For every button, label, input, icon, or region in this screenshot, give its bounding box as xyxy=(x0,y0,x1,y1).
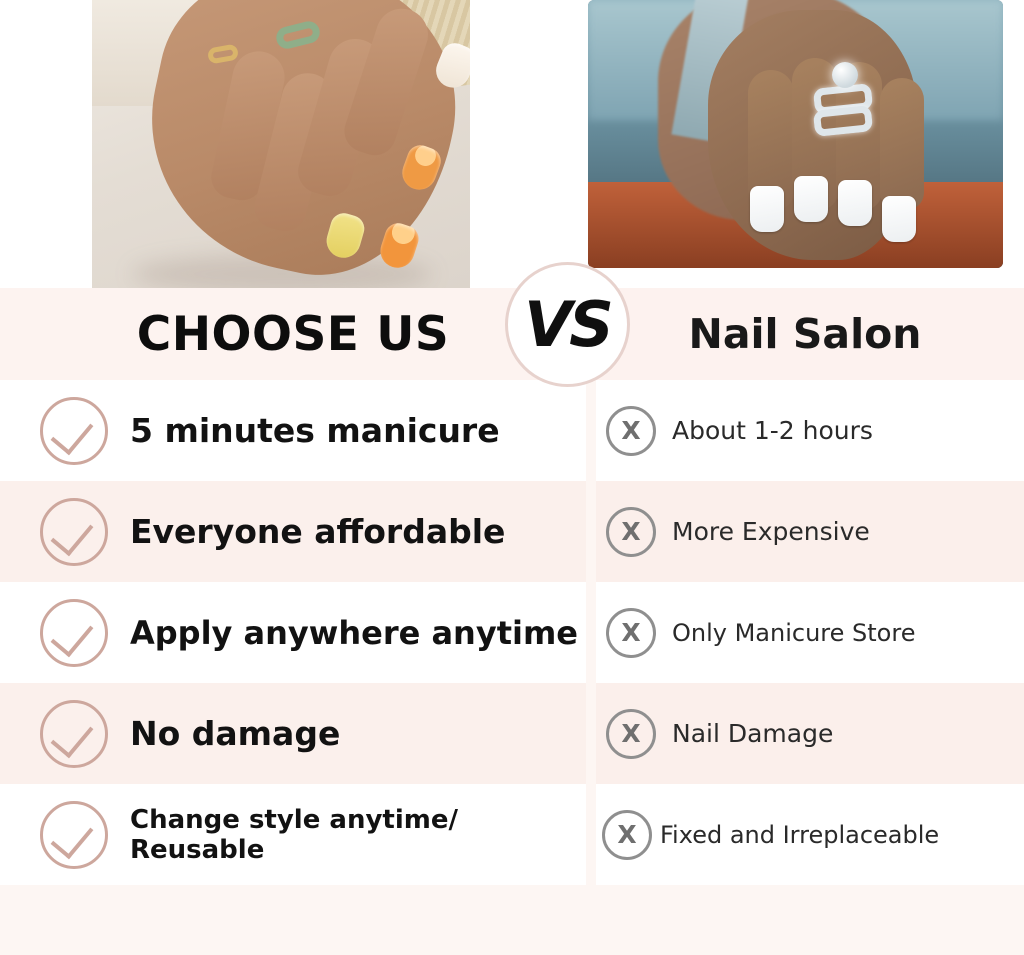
x-icon: X xyxy=(606,709,656,759)
check-icon xyxy=(40,498,108,566)
pro-text: Apply anywhere anytime xyxy=(130,614,578,652)
diamond-gem xyxy=(832,62,858,88)
column-divider xyxy=(586,582,596,683)
choose-us-photo xyxy=(92,0,470,288)
pro-cell: Everyone affordable xyxy=(0,481,586,582)
check-icon xyxy=(40,801,108,869)
pro-text: Everyone affordable xyxy=(130,512,505,551)
pro-cell: No damage xyxy=(0,683,586,784)
choose-us-label: CHOOSE US xyxy=(137,307,450,362)
comparison-infographic: CHOOSE US VS Nail Salon 5 minutes manicu… xyxy=(0,0,1024,955)
con-text: Fixed and Irreplaceable xyxy=(660,821,939,849)
con-cell: X Only Manicure Store xyxy=(586,582,1024,683)
x-icon: X xyxy=(606,608,656,658)
table-row: Apply anywhere anytime X Only Manicure S… xyxy=(0,582,1024,683)
pro-cell: 5 minutes manicure xyxy=(0,380,586,481)
pro-text: Change style anytime/ Reusable xyxy=(130,805,586,865)
nail-salon-title: Nail Salon xyxy=(586,288,1024,380)
title-row: CHOOSE US VS Nail Salon xyxy=(0,288,1024,380)
white-nail xyxy=(882,196,916,242)
x-icon: X xyxy=(606,406,656,456)
x-icon: X xyxy=(602,810,652,860)
white-nail xyxy=(794,176,828,222)
con-cell: X Nail Damage xyxy=(586,683,1024,784)
check-icon xyxy=(40,397,108,465)
choose-us-title: CHOOSE US xyxy=(0,288,586,380)
con-cell: X More Expensive xyxy=(586,481,1024,582)
white-nail xyxy=(838,180,872,226)
hero-images xyxy=(0,0,1024,288)
table-row: 5 minutes manicure X About 1-2 hours xyxy=(0,380,1024,481)
white-nail xyxy=(750,186,784,232)
column-divider xyxy=(586,380,596,481)
column-divider xyxy=(586,481,596,582)
x-icon: X xyxy=(606,507,656,557)
nail-salon-label: Nail Salon xyxy=(689,310,922,358)
check-icon xyxy=(40,599,108,667)
con-cell: X Fixed and Irreplaceable xyxy=(586,784,1024,885)
vs-label: VS xyxy=(524,288,611,361)
table-row: Everyone affordable X More Expensive xyxy=(0,481,1024,582)
con-text: About 1-2 hours xyxy=(672,416,873,445)
comparison-rows: 5 minutes manicure X About 1-2 hours Eve… xyxy=(0,380,1024,885)
table-row: Change style anytime/ Reusable X Fixed a… xyxy=(0,784,1024,885)
con-text: Only Manicure Store xyxy=(672,619,915,647)
con-cell: X About 1-2 hours xyxy=(586,380,1024,481)
con-text: Nail Damage xyxy=(672,719,833,748)
column-divider xyxy=(586,784,596,885)
finger xyxy=(880,78,924,210)
con-text: More Expensive xyxy=(672,517,870,546)
table-row: No damage X Nail Damage xyxy=(0,683,1024,784)
column-divider xyxy=(586,683,596,784)
check-icon xyxy=(40,700,108,768)
nail-salon-photo xyxy=(588,0,1003,268)
footer-spacer xyxy=(0,885,1024,947)
pro-text: No damage xyxy=(130,714,340,753)
pro-text: 5 minutes manicure xyxy=(130,411,500,450)
vs-badge: VS xyxy=(505,262,630,387)
pro-cell: Apply anywhere anytime xyxy=(0,582,586,683)
pro-cell: Change style anytime/ Reusable xyxy=(0,784,586,885)
